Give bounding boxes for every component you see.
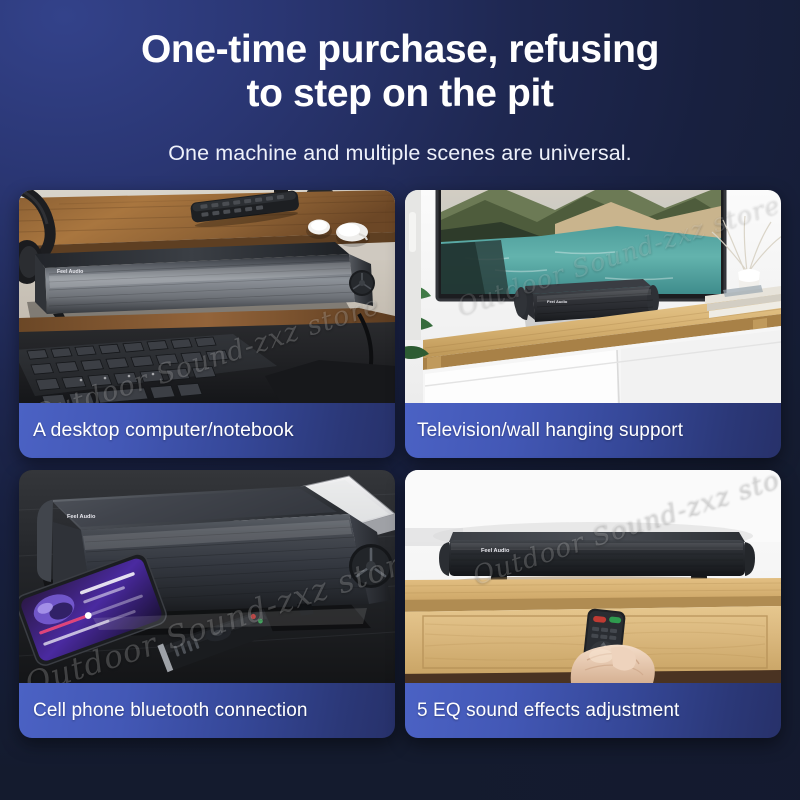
card-caption-television: Television/wall hanging support	[405, 403, 781, 458]
scene-photo-television: Feel Audio	[405, 190, 781, 403]
tv-scene-illustration: Feel Audio	[405, 190, 781, 403]
scene-photo-desktop: Feel Audio	[19, 190, 395, 403]
scene-card-television[interactable]: Feel Audio	[405, 190, 781, 458]
equalizer-scene-illustration: Feel Audio	[405, 470, 781, 683]
scene-photo-bluetooth: Feel Audio	[19, 470, 395, 683]
subheadline: One machine and multiple scenes are univ…	[0, 141, 800, 166]
poster-header: One-time purchase, refusing to step on t…	[0, 0, 800, 166]
scene-card-grid: Feel Audio	[19, 190, 781, 738]
brand-logo-text: Feel Audio	[67, 514, 96, 520]
scene-card-equalizer[interactable]: Feel Audio	[405, 470, 781, 738]
scene-card-desktop[interactable]: Feel Audio	[19, 190, 395, 458]
brand-logo-text: Feel Audio	[481, 548, 510, 554]
card-caption-desktop: A desktop computer/notebook	[19, 403, 395, 458]
headline-line-2: to step on the pit	[46, 72, 754, 116]
card-caption-bluetooth: Cell phone bluetooth connection	[19, 683, 395, 738]
brand-logo-text: Feel Audio	[57, 269, 83, 275]
headline-line-1: One-time purchase, refusing	[46, 28, 754, 72]
scene-card-bluetooth[interactable]: Feel Audio	[19, 470, 395, 738]
desk-scene-illustration: Feel Audio	[19, 190, 395, 403]
brand-logo-text: Feel Audio	[547, 299, 568, 304]
scene-photo-equalizer: Feel Audio	[405, 470, 781, 683]
product-poster: One-time purchase, refusing to step on t…	[0, 0, 800, 800]
headline: One-time purchase, refusing to step on t…	[0, 28, 800, 116]
bluetooth-scene-illustration: Feel Audio	[19, 470, 395, 683]
card-caption-equalizer: 5 EQ sound effects adjustment	[405, 683, 781, 738]
